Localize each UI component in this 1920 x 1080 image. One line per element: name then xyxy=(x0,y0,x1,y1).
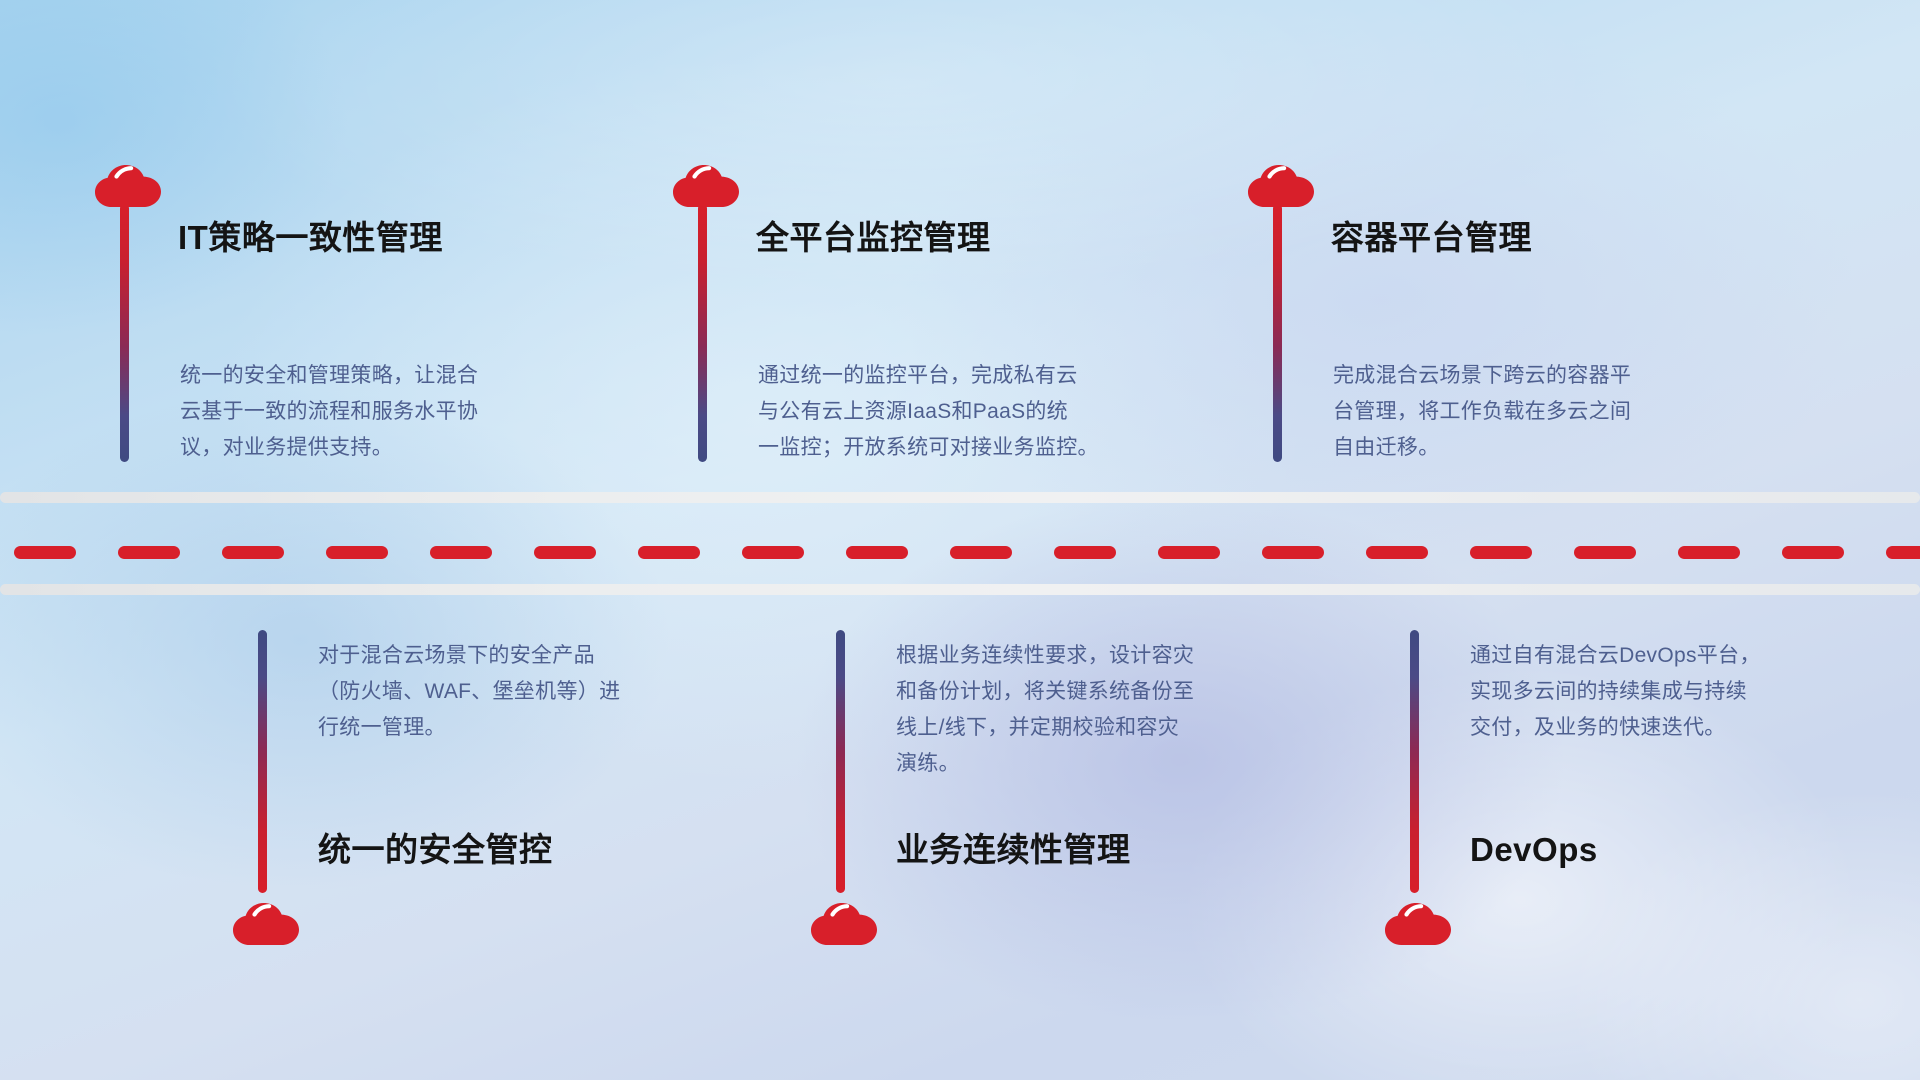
body-line: 和备份计划，将关键系统备份至 xyxy=(896,674,1336,710)
divider-dash xyxy=(1470,546,1532,559)
card-title: IT策略一致性管理 xyxy=(178,221,443,254)
body-line: 演练。 xyxy=(896,746,1336,782)
card-body: 统一的安全和管理策略，让混合 云基于一致的流程和服务水平协 议，对业务提供支持。 xyxy=(180,358,610,466)
body-line: 通过统一的监控平台，完成私有云 xyxy=(758,358,1208,394)
divider-dash xyxy=(534,546,596,559)
connector-stem xyxy=(258,630,267,893)
card-title: 全平台监控管理 xyxy=(756,221,991,254)
divider-rule-bottom xyxy=(0,584,1920,595)
body-line: 根据业务连续性要求，设计容灾 xyxy=(896,638,1336,674)
body-line: 议，对业务提供支持。 xyxy=(180,430,610,466)
body-line: 行统一管理。 xyxy=(318,710,758,746)
connector-stem xyxy=(698,204,707,462)
body-line: 云基于一致的流程和服务水平协 xyxy=(180,394,610,430)
divider-dash xyxy=(950,546,1012,559)
card-body: 完成混合云场景下跨云的容器平 台管理，将工作负载在多云之间 自由迁移。 xyxy=(1333,358,1783,466)
connector-stem xyxy=(836,630,845,893)
divider-dashed-line xyxy=(0,546,1920,559)
divider-dash xyxy=(846,546,908,559)
divider-dash xyxy=(1366,546,1428,559)
card-body: 对于混合云场景下的安全产品 （防火墙、WAF、堡垒机等）进 行统一管理。 xyxy=(318,638,758,746)
connector-stem xyxy=(120,204,129,462)
divider-dash xyxy=(1782,546,1844,559)
cloud-icon xyxy=(1247,160,1315,208)
body-line: 与公有云上资源IaaS和PaaS的统 xyxy=(758,394,1208,430)
cloud-icon xyxy=(1384,898,1452,946)
body-line: 台管理，将工作负载在多云之间 xyxy=(1333,394,1783,430)
connector-stem xyxy=(1273,204,1282,462)
card-title: 容器平台管理 xyxy=(1331,221,1532,254)
divider-rule-top xyxy=(0,492,1920,503)
card-body: 根据业务连续性要求，设计容灾 和备份计划，将关键系统备份至 线上/线下，并定期校… xyxy=(896,638,1336,782)
body-line: 完成混合云场景下跨云的容器平 xyxy=(1333,358,1783,394)
divider-dash xyxy=(1262,546,1324,559)
card-title: 业务连续性管理 xyxy=(896,833,1131,866)
divider-dash xyxy=(326,546,388,559)
body-line: （防火墙、WAF、堡垒机等）进 xyxy=(318,674,758,710)
body-line: 实现多云间的持续集成与持续 xyxy=(1470,674,1910,710)
card-body: 通过统一的监控平台，完成私有云 与公有云上资源IaaS和PaaS的统 一监控；开… xyxy=(758,358,1208,466)
divider-dash xyxy=(742,546,804,559)
divider-dash xyxy=(222,546,284,559)
divider-dash xyxy=(1574,546,1636,559)
divider-dash xyxy=(1886,546,1920,559)
cloud-icon xyxy=(810,898,878,946)
body-line: 交付，及业务的快速迭代。 xyxy=(1470,710,1910,746)
card-title: DevOps xyxy=(1470,833,1598,866)
cloud-icon xyxy=(672,160,740,208)
body-line: 一监控；开放系统可对接业务监控。 xyxy=(758,430,1208,466)
card-body: 通过自有混合云DevOps平台， 实现多云间的持续集成与持续 交付，及业务的快速… xyxy=(1470,638,1910,746)
divider-dash xyxy=(638,546,700,559)
body-line: 线上/线下，并定期校验和容灾 xyxy=(896,710,1336,746)
body-line: 对于混合云场景下的安全产品 xyxy=(318,638,758,674)
body-line: 自由迁移。 xyxy=(1333,430,1783,466)
body-line: 通过自有混合云DevOps平台， xyxy=(1470,638,1910,674)
card-title: 统一的安全管控 xyxy=(318,833,553,866)
divider-dash xyxy=(1054,546,1116,559)
infographic-canvas: IT策略一致性管理 统一的安全和管理策略，让混合 云基于一致的流程和服务水平协 … xyxy=(0,0,1920,1080)
connector-stem xyxy=(1410,630,1419,893)
divider-dash xyxy=(1678,546,1740,559)
divider-dash xyxy=(430,546,492,559)
cloud-icon xyxy=(94,160,162,208)
divider-dash xyxy=(14,546,76,559)
divider-dash xyxy=(118,546,180,559)
body-line: 统一的安全和管理策略，让混合 xyxy=(180,358,610,394)
cloud-icon xyxy=(232,898,300,946)
divider-dash xyxy=(1158,546,1220,559)
